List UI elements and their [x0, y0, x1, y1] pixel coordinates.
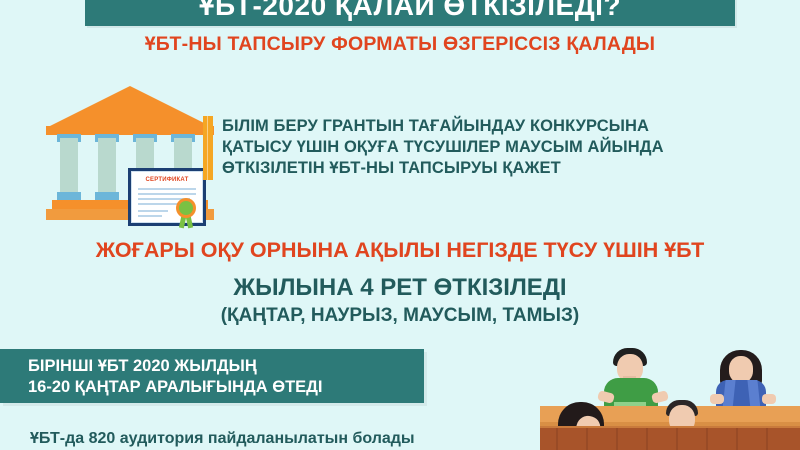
desk-slat	[676, 428, 678, 450]
quote-close-icon: ”	[710, 0, 721, 14]
desk-slat	[736, 428, 738, 450]
info-banner-line-2: 16-20 ҚАҢТАР АРАЛЫҒЫНДА ӨТЕДІ	[28, 378, 323, 397]
orange-accent-bar	[203, 116, 213, 180]
desk-slat	[556, 428, 558, 450]
roof-shape	[46, 86, 214, 128]
certificate-label: СЕРТИФИКАТ	[137, 177, 197, 183]
desk-slat	[616, 428, 618, 450]
desk-front-panel	[540, 428, 800, 450]
certificate-seal-icon	[176, 198, 198, 220]
title-text: ҰБТ-2020 ҚАЛАЙ ӨТКІЗІЛЕДІ?	[199, 0, 621, 20]
desk-slat	[646, 428, 648, 450]
bottom-note-text: ҰБТ-да 820 аудитория пайдаланылатын бола…	[30, 430, 550, 448]
seal-inner	[179, 201, 193, 215]
certificate-text-line	[138, 210, 168, 212]
certificate-body: СЕРТИФИКАТ	[131, 171, 203, 223]
certificate-icon: СЕРТИФИКАТ	[128, 168, 206, 226]
seal-ribbon	[179, 217, 186, 229]
paragraph-line-1: БІЛІМ БЕРУ ГРАНТЫН ТАҒАЙЫНДАУ КОНКУРСЫНА	[222, 116, 782, 137]
title-banner: “ ҰБТ-2020 ҚАЛАЙ ӨТКІЗІЛЕДІ? ”	[85, 0, 735, 26]
column	[60, 138, 78, 196]
column	[98, 138, 116, 196]
column-base	[95, 192, 119, 200]
certificate-text-line	[138, 188, 196, 190]
students-illustration	[540, 340, 800, 450]
frequency-months-text: (ҚАҢТАР, НАУРЫЗ, МАУСЫМ, ТАМЫЗ)	[0, 305, 800, 327]
arm-right	[762, 394, 776, 404]
frequency-main-text: ЖЫЛЫНА 4 РЕТ ӨТКІЗІЛЕДІ	[0, 274, 800, 302]
desk-slat	[706, 428, 708, 450]
column-base	[57, 192, 81, 200]
certificate-text-line	[138, 193, 196, 195]
seal-ribbon	[186, 217, 193, 229]
bank-building-icon: СЕРТИФИКАТ	[44, 82, 219, 232]
desk-slat	[586, 428, 588, 450]
head	[729, 356, 753, 383]
subtitle-text: ҰБТ-НЫ ТАПСЫРУ ФОРМАТЫ ӨЗГЕРІССІЗ ҚАЛАДЫ	[0, 33, 800, 56]
paragraph-block: БІЛІМ БЕРУ ГРАНТЫН ТАҒАЙЫНДАУ КОНКУРСЫНА…	[222, 116, 782, 179]
quote-open-icon: “	[99, 0, 110, 14]
paragraph-line-2: ҚАТЫСУ ҮШІН ОҚУҒА ТҮСУШІЛЕР МАУСЫМ АЙЫНД…	[222, 137, 782, 158]
desk-slat	[766, 428, 768, 450]
certificate-text-line	[138, 215, 162, 217]
info-banner: БІРІНШІ ҰБТ 2020 ЖЫЛДЫҢ 16-20 ҚАҢТАР АРА…	[0, 349, 424, 403]
infographic-canvas: “ ҰБТ-2020 ҚАЛАЙ ӨТКІЗІЛЕДІ? ” ҰБТ-НЫ ТА…	[0, 0, 800, 450]
headline-text: ЖОҒАРЫ ОҚУ ОРНЫНА АҚЫЛЫ НЕГІЗДЕ ТҮСУ ҮШІ…	[0, 238, 800, 263]
paragraph-line-3: ӨТКІЗІЛЕТІН ҰБТ-НЫ ТАПСЫРУЫ ҚАЖЕТ	[222, 158, 782, 179]
info-banner-line-1: БІРІНШІ ҰБТ 2020 ЖЫЛДЫҢ	[28, 357, 257, 376]
